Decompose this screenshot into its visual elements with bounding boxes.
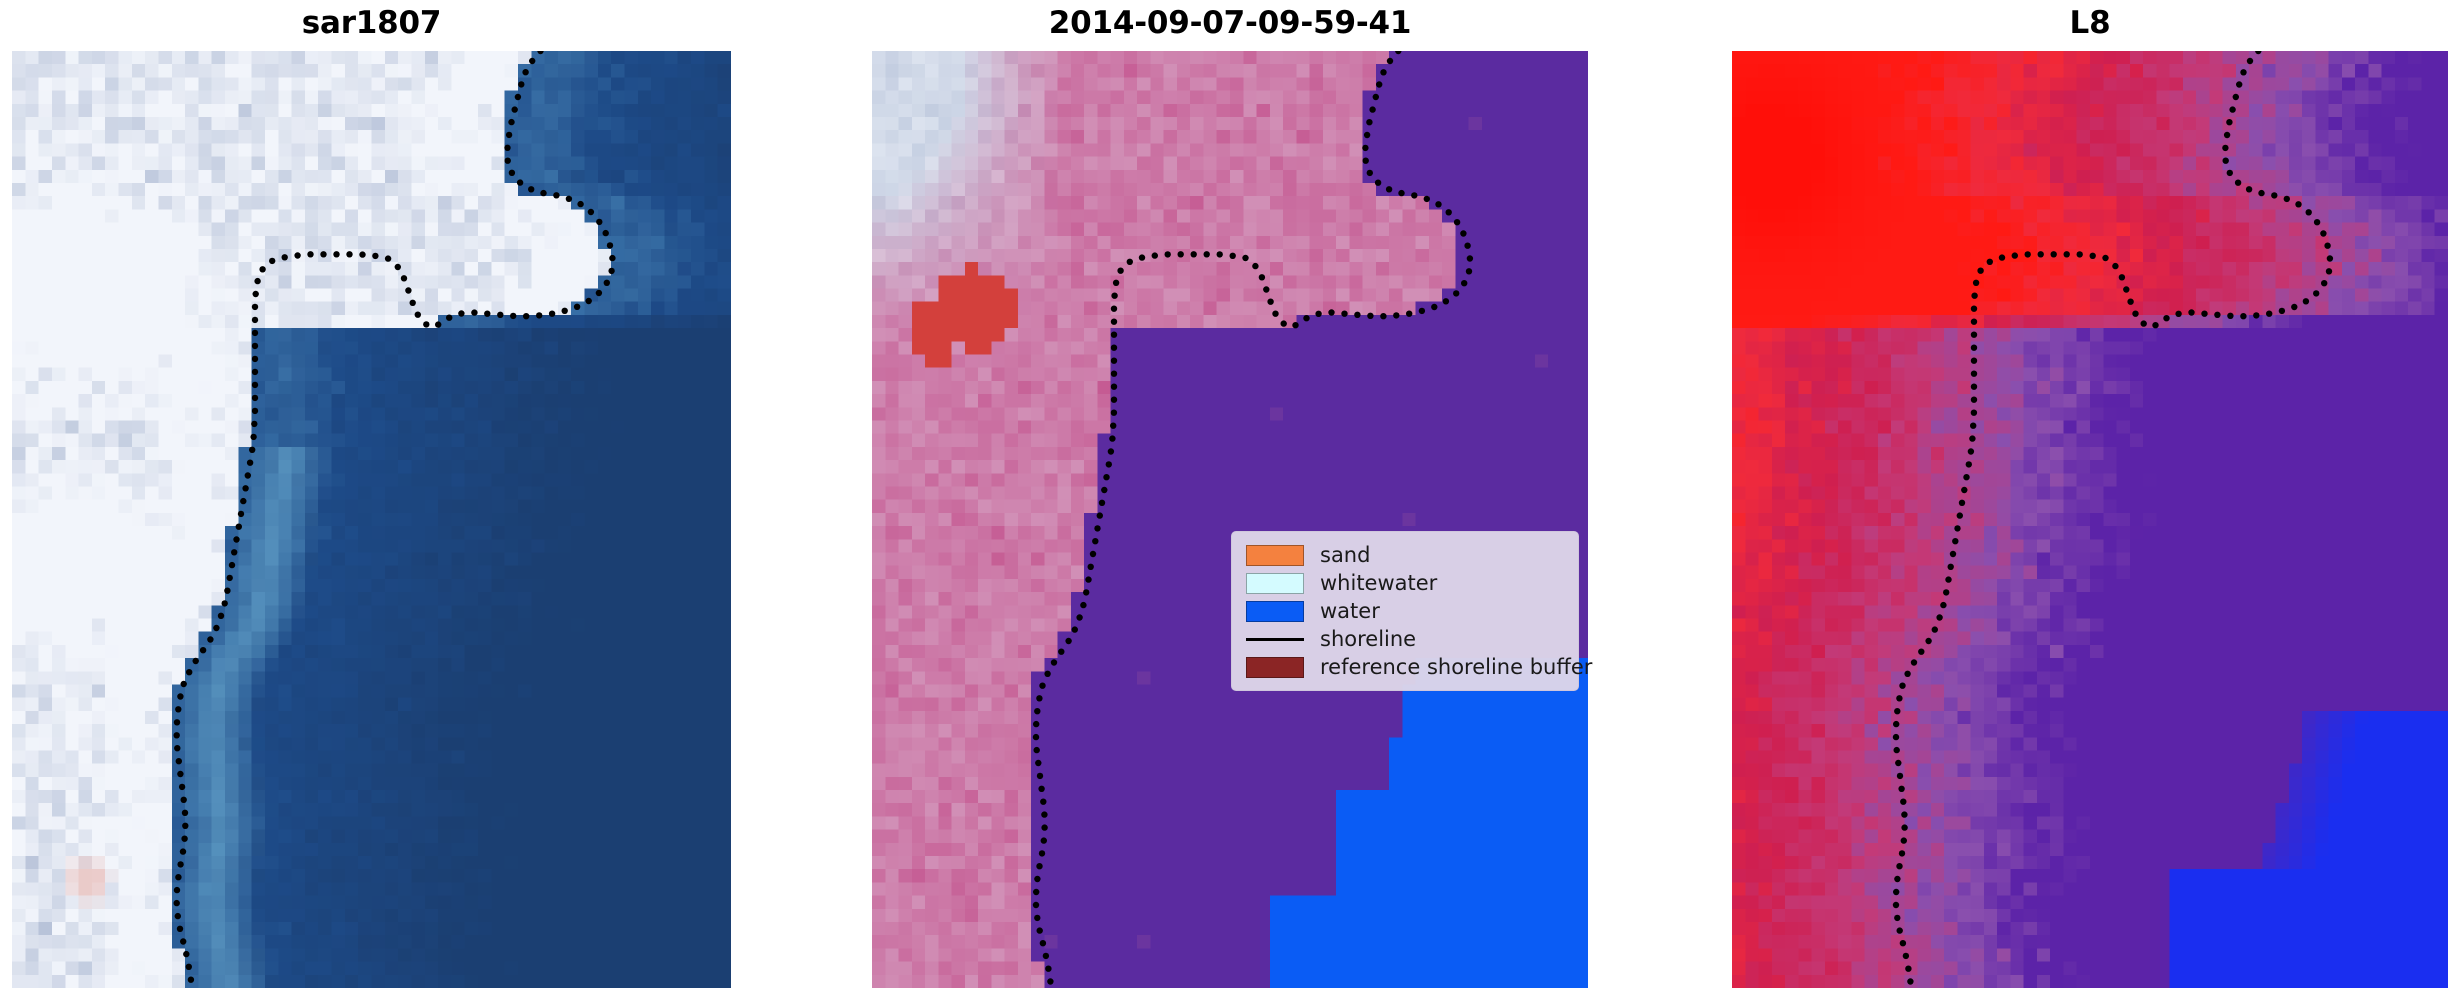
- panel-image-classified: [872, 51, 1588, 988]
- legend-line-shoreline: [1244, 629, 1306, 650]
- legend-item-reference-buffer: reference shoreline buffer: [1244, 653, 1568, 681]
- legend-item-shoreline: shoreline: [1244, 625, 1568, 653]
- legend-item-sand: sand: [1244, 541, 1568, 569]
- legend-label-water: water: [1320, 601, 1380, 622]
- legend-item-water: water: [1244, 597, 1568, 625]
- panel-classified: 2014-09-07-09-59-41: [872, 51, 1588, 988]
- panel-title-sar: sar1807: [12, 5, 731, 41]
- panel-title-l8: L8: [1732, 5, 2448, 41]
- legend-swatch-whitewater: [1244, 573, 1306, 594]
- legend-label-reference-buffer: reference shoreline buffer: [1320, 657, 1592, 678]
- legend-item-whitewater: whitewater: [1244, 569, 1568, 597]
- legend-label-whitewater: whitewater: [1320, 573, 1437, 594]
- panel-axes-sar: [12, 51, 731, 988]
- legend-swatch-reference-buffer: [1244, 657, 1306, 678]
- legend-label-shoreline: shoreline: [1320, 629, 1416, 650]
- legend-swatch-water: [1244, 601, 1306, 622]
- legend-label-sand: sand: [1320, 545, 1370, 566]
- panel-sar: sar1807: [12, 51, 731, 988]
- panel-image-l8: [1732, 51, 2448, 988]
- panel-axes-classified: [872, 51, 1588, 988]
- legend-box: sand whitewater water shoreline referenc…: [1231, 531, 1579, 691]
- panel-l8: L8: [1732, 51, 2448, 988]
- panel-image-sar: [12, 51, 731, 988]
- panel-title-classified: 2014-09-07-09-59-41: [872, 5, 1588, 41]
- legend-swatch-sand: [1244, 545, 1306, 566]
- figure-canvas: sar1807 2014-09-07-09-59-41 L8 sand whit…: [0, 0, 2460, 1005]
- panel-axes-l8: [1732, 51, 2448, 988]
